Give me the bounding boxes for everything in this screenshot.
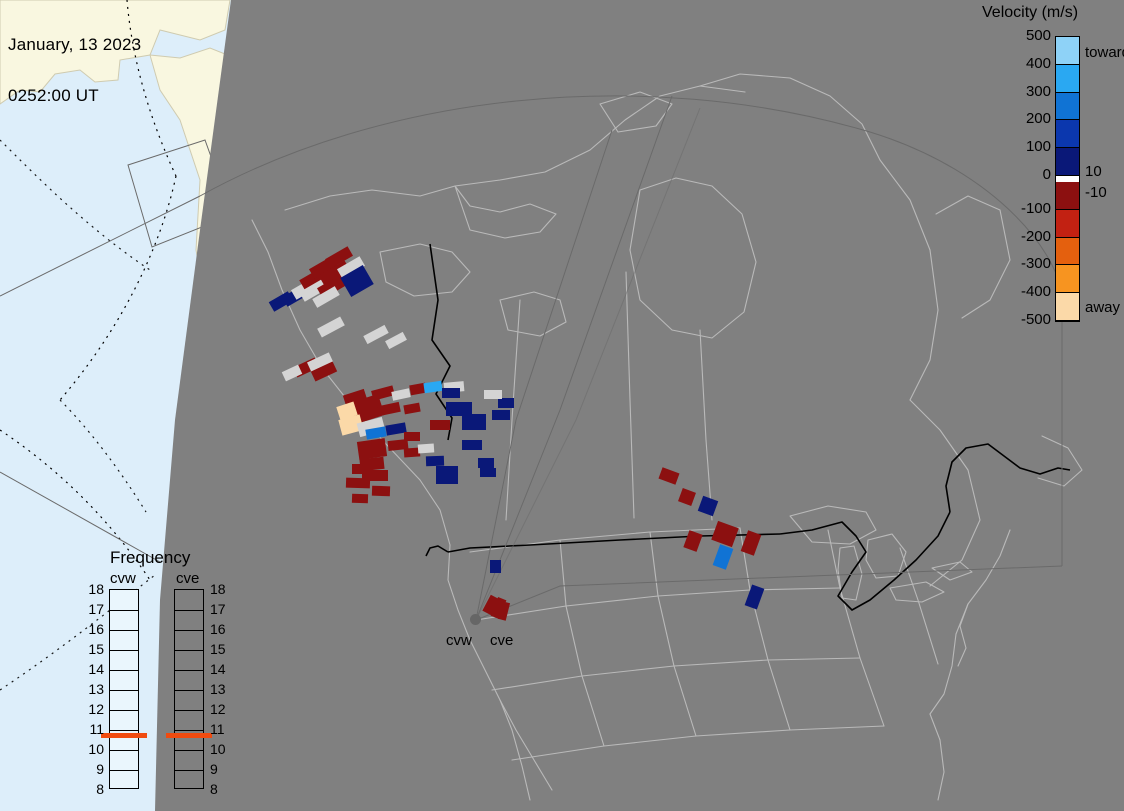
frequency-tick-label: 11 [82, 721, 104, 737]
frequency-gridline [110, 730, 138, 731]
velocity-cell [678, 488, 696, 506]
velocity-cell [462, 414, 486, 430]
frequency-tick-label: 8 [210, 781, 232, 797]
velocity-tick-label: 200 [1026, 110, 1051, 127]
velocity-cell [317, 316, 345, 337]
frequency-tick-label: 10 [210, 741, 232, 757]
frequency-tick-label: 15 [82, 641, 104, 657]
timestamp-date: January, 13 2023 [8, 36, 141, 53]
frequency-column-header-cve: cve [176, 570, 199, 587]
velocity-cell [418, 443, 435, 453]
frequency-legend: Frequency cvw cve 1818171716161515141413… [88, 548, 238, 788]
timestamp-time: 0252:00 UT [8, 87, 141, 104]
velocity-tick-label: 400 [1026, 55, 1051, 72]
velocity-away-label: away [1085, 299, 1120, 316]
velocity-cell [462, 440, 482, 450]
velocity-colorbar-segment [1056, 37, 1079, 65]
velocity-tick-label: -100 [1021, 200, 1051, 217]
frequency-tick-label: 16 [210, 621, 232, 637]
frequency-tick-label: 13 [82, 681, 104, 697]
velocity-colorbar-segment [1056, 148, 1079, 176]
frequency-gridline [110, 710, 138, 711]
frequency-tick-label: 15 [210, 641, 232, 657]
velocity-tick-label: 100 [1026, 138, 1051, 155]
velocity-cell [741, 530, 762, 555]
velocity-cell [372, 486, 390, 497]
frequency-tick-label: 18 [82, 581, 104, 597]
velocity-cell [391, 388, 410, 401]
frequency-gridline [110, 750, 138, 751]
frequency-tick-label: 10 [82, 741, 104, 757]
velocity-cell [698, 496, 719, 517]
frequency-gridline [110, 650, 138, 651]
velocity-cell [490, 560, 501, 573]
frequency-tick-label: 12 [82, 701, 104, 717]
velocity-cell [385, 332, 407, 349]
frequency-tick-label: 8 [82, 781, 104, 797]
velocity-cell [357, 438, 387, 460]
timestamp: January, 13 2023 0252:00 UT [8, 2, 141, 138]
velocity-colorbar [1055, 36, 1080, 322]
velocity-cell [478, 458, 494, 468]
velocity-colorbar-segment [1056, 120, 1079, 148]
velocity-tick-label: -200 [1021, 228, 1051, 245]
frequency-gridline [110, 670, 138, 671]
frequency-marker [101, 733, 147, 738]
velocity-legend: Velocity (m/s) 5004003002001000-100-200-… [975, 0, 1124, 340]
frequency-tick-label: 12 [210, 701, 232, 717]
velocity-cell [713, 544, 734, 569]
velocity-cell [745, 584, 765, 609]
velocity-cell [683, 530, 702, 552]
radar-site-label-cvw: cvw [446, 632, 472, 649]
frequency-gridline [110, 610, 138, 611]
velocity-colorbar-segment [1056, 65, 1079, 93]
velocity-cell [492, 410, 510, 420]
frequency-gridline [175, 670, 203, 671]
frequency-tick-label: 17 [82, 601, 104, 617]
frequency-tick-label: 9 [82, 761, 104, 777]
velocity-tick-label: 0 [1043, 166, 1051, 183]
frequency-tick-label: 18 [210, 581, 232, 597]
velocity-tick-label: -500 [1021, 311, 1051, 328]
frequency-gridline [110, 630, 138, 631]
velocity-tick-label: -400 [1021, 283, 1051, 300]
frequency-gridline [175, 630, 203, 631]
velocity-cell [363, 325, 388, 344]
frequency-legend-title: Frequency [110, 548, 190, 568]
frequency-tick-label: 9 [210, 761, 232, 777]
velocity-cell [423, 381, 442, 393]
velocity-cell [346, 478, 370, 489]
velocity-cell [352, 464, 372, 474]
velocity-cell [426, 456, 444, 467]
velocity-lower-threshold-label: -10 [1085, 184, 1107, 201]
velocity-legend-title: Velocity (m/s) [982, 4, 1078, 22]
velocity-colorbar-segment [1056, 93, 1079, 121]
radar-map-canvas: cvw cve January, 13 2023 0252:00 UT Velo… [0, 0, 1124, 811]
velocity-cell [498, 398, 514, 408]
frequency-tick-label: 16 [82, 621, 104, 637]
velocity-cell [371, 385, 395, 400]
velocity-cell [404, 432, 420, 441]
velocity-colorbar-segment [1056, 293, 1079, 321]
velocity-cell [436, 466, 458, 484]
frequency-bar-cvw [109, 589, 139, 789]
frequency-tick-label: 13 [210, 681, 232, 697]
velocity-cell [442, 388, 460, 398]
velocity-tick-label: -300 [1021, 255, 1051, 272]
velocity-tick-label: 300 [1026, 83, 1051, 100]
radar-site-label-cve: cve [490, 632, 513, 649]
velocity-cell [430, 420, 450, 430]
velocity-cell [403, 403, 420, 415]
velocity-upper-threshold-label: 10 [1085, 163, 1102, 180]
frequency-gridline [110, 770, 138, 771]
frequency-column-header-cvw: cvw [110, 570, 136, 587]
velocity-cell [282, 365, 303, 382]
frequency-tick-label: 11 [210, 721, 232, 737]
frequency-gridline [175, 710, 203, 711]
velocity-cell [446, 402, 472, 416]
radar-site-marker [470, 614, 481, 625]
velocity-cell [480, 468, 496, 477]
velocity-cell [658, 467, 679, 484]
velocity-colorbar-segment [1056, 238, 1079, 266]
frequency-gridline [175, 750, 203, 751]
frequency-gridline [175, 770, 203, 771]
velocity-cell [352, 494, 368, 504]
velocity-toward-label: toward [1085, 44, 1124, 61]
velocity-colorbar-segment [1056, 210, 1079, 238]
velocity-cell [404, 447, 421, 457]
velocity-colorbar-segment [1056, 182, 1079, 210]
velocity-colorbar-segment [1056, 265, 1079, 293]
frequency-gridline [175, 650, 203, 651]
frequency-bar-cve [174, 589, 204, 789]
frequency-marker [166, 733, 212, 738]
frequency-tick-label: 14 [210, 661, 232, 677]
frequency-tick-label: 14 [82, 661, 104, 677]
frequency-gridline [175, 610, 203, 611]
frequency-gridline [175, 690, 203, 691]
frequency-gridline [110, 690, 138, 691]
velocity-tick-label: 500 [1026, 27, 1051, 44]
velocity-cell [385, 422, 406, 435]
frequency-tick-label: 17 [210, 601, 232, 617]
frequency-gridline [175, 730, 203, 731]
velocity-cell [484, 390, 502, 399]
velocity-cell [711, 521, 739, 547]
